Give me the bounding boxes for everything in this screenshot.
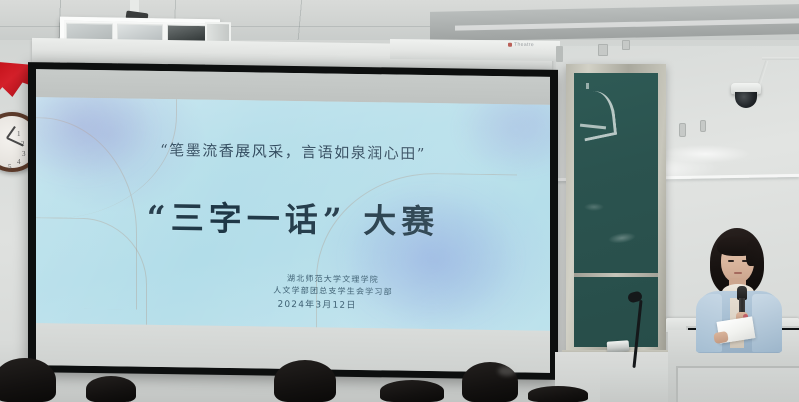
audience-head-1: [0, 358, 56, 402]
housing-bracket-right: [556, 46, 563, 62]
brand-logo-icon: [508, 42, 512, 46]
camera-conduit-horizontal: [762, 57, 799, 60]
audience-head-3: [274, 360, 336, 402]
clock-number-5: 5: [8, 163, 12, 171]
presentation-slide: “笔墨流香展风采，言语如泉润心田” “三字一话” 大赛 湖北师范大学文理学院 人…: [36, 97, 550, 331]
chalk-dot-mark: [586, 83, 589, 89]
wall-hook-2: [700, 120, 706, 132]
wall-hook-1: [679, 123, 686, 137]
podium-front-inset: [676, 366, 799, 402]
wall-scuff-mark-2: [660, 145, 750, 163]
presenter-speaker: [690, 228, 786, 346]
projection-screen: “笔墨流香展风采，言语如泉润心田” “三字一话” 大赛 湖北师范大学文理学院 人…: [36, 69, 550, 373]
presenter-mouth: [734, 272, 742, 274]
brand-text: Theatre: [514, 41, 534, 47]
audience-head-6: [528, 386, 588, 402]
chalk-smudge-2: [584, 203, 604, 211]
chalk-smudge-1: [607, 231, 636, 245]
audience-head-4: [380, 380, 444, 402]
slide-title: “三字一话” 大赛: [36, 189, 550, 245]
presenter-jacket-sleeve-right: [752, 294, 782, 352]
wall-bracket-left: [598, 44, 608, 56]
audience-head-2: [86, 376, 136, 402]
clock-number-3: 3: [22, 150, 26, 158]
housing-brand-label: Theatre: [508, 40, 560, 50]
clock-number-4: 4: [17, 158, 21, 166]
projection-screen-frame: “笔墨流香展风采，言语如泉润心田” “三字一话” 大赛 湖北师范大学文理学院 人…: [28, 62, 558, 380]
blackboard-frame: [566, 64, 666, 356]
blackboard-eraser: [607, 340, 630, 353]
chalk-squiggle-icon: [580, 88, 617, 142]
blackboard: [574, 73, 658, 347]
blackboard-panel-split: [574, 273, 658, 277]
wall-bracket-right: [622, 40, 630, 50]
presenter-hair-side: [746, 240, 760, 266]
audience-head-highlight: [498, 366, 516, 376]
classroom-scene: 1 2 3 4 5 Theatre: [0, 0, 799, 402]
clock-number-1: 1: [17, 130, 21, 138]
presenter-eye-left: [728, 260, 734, 262]
